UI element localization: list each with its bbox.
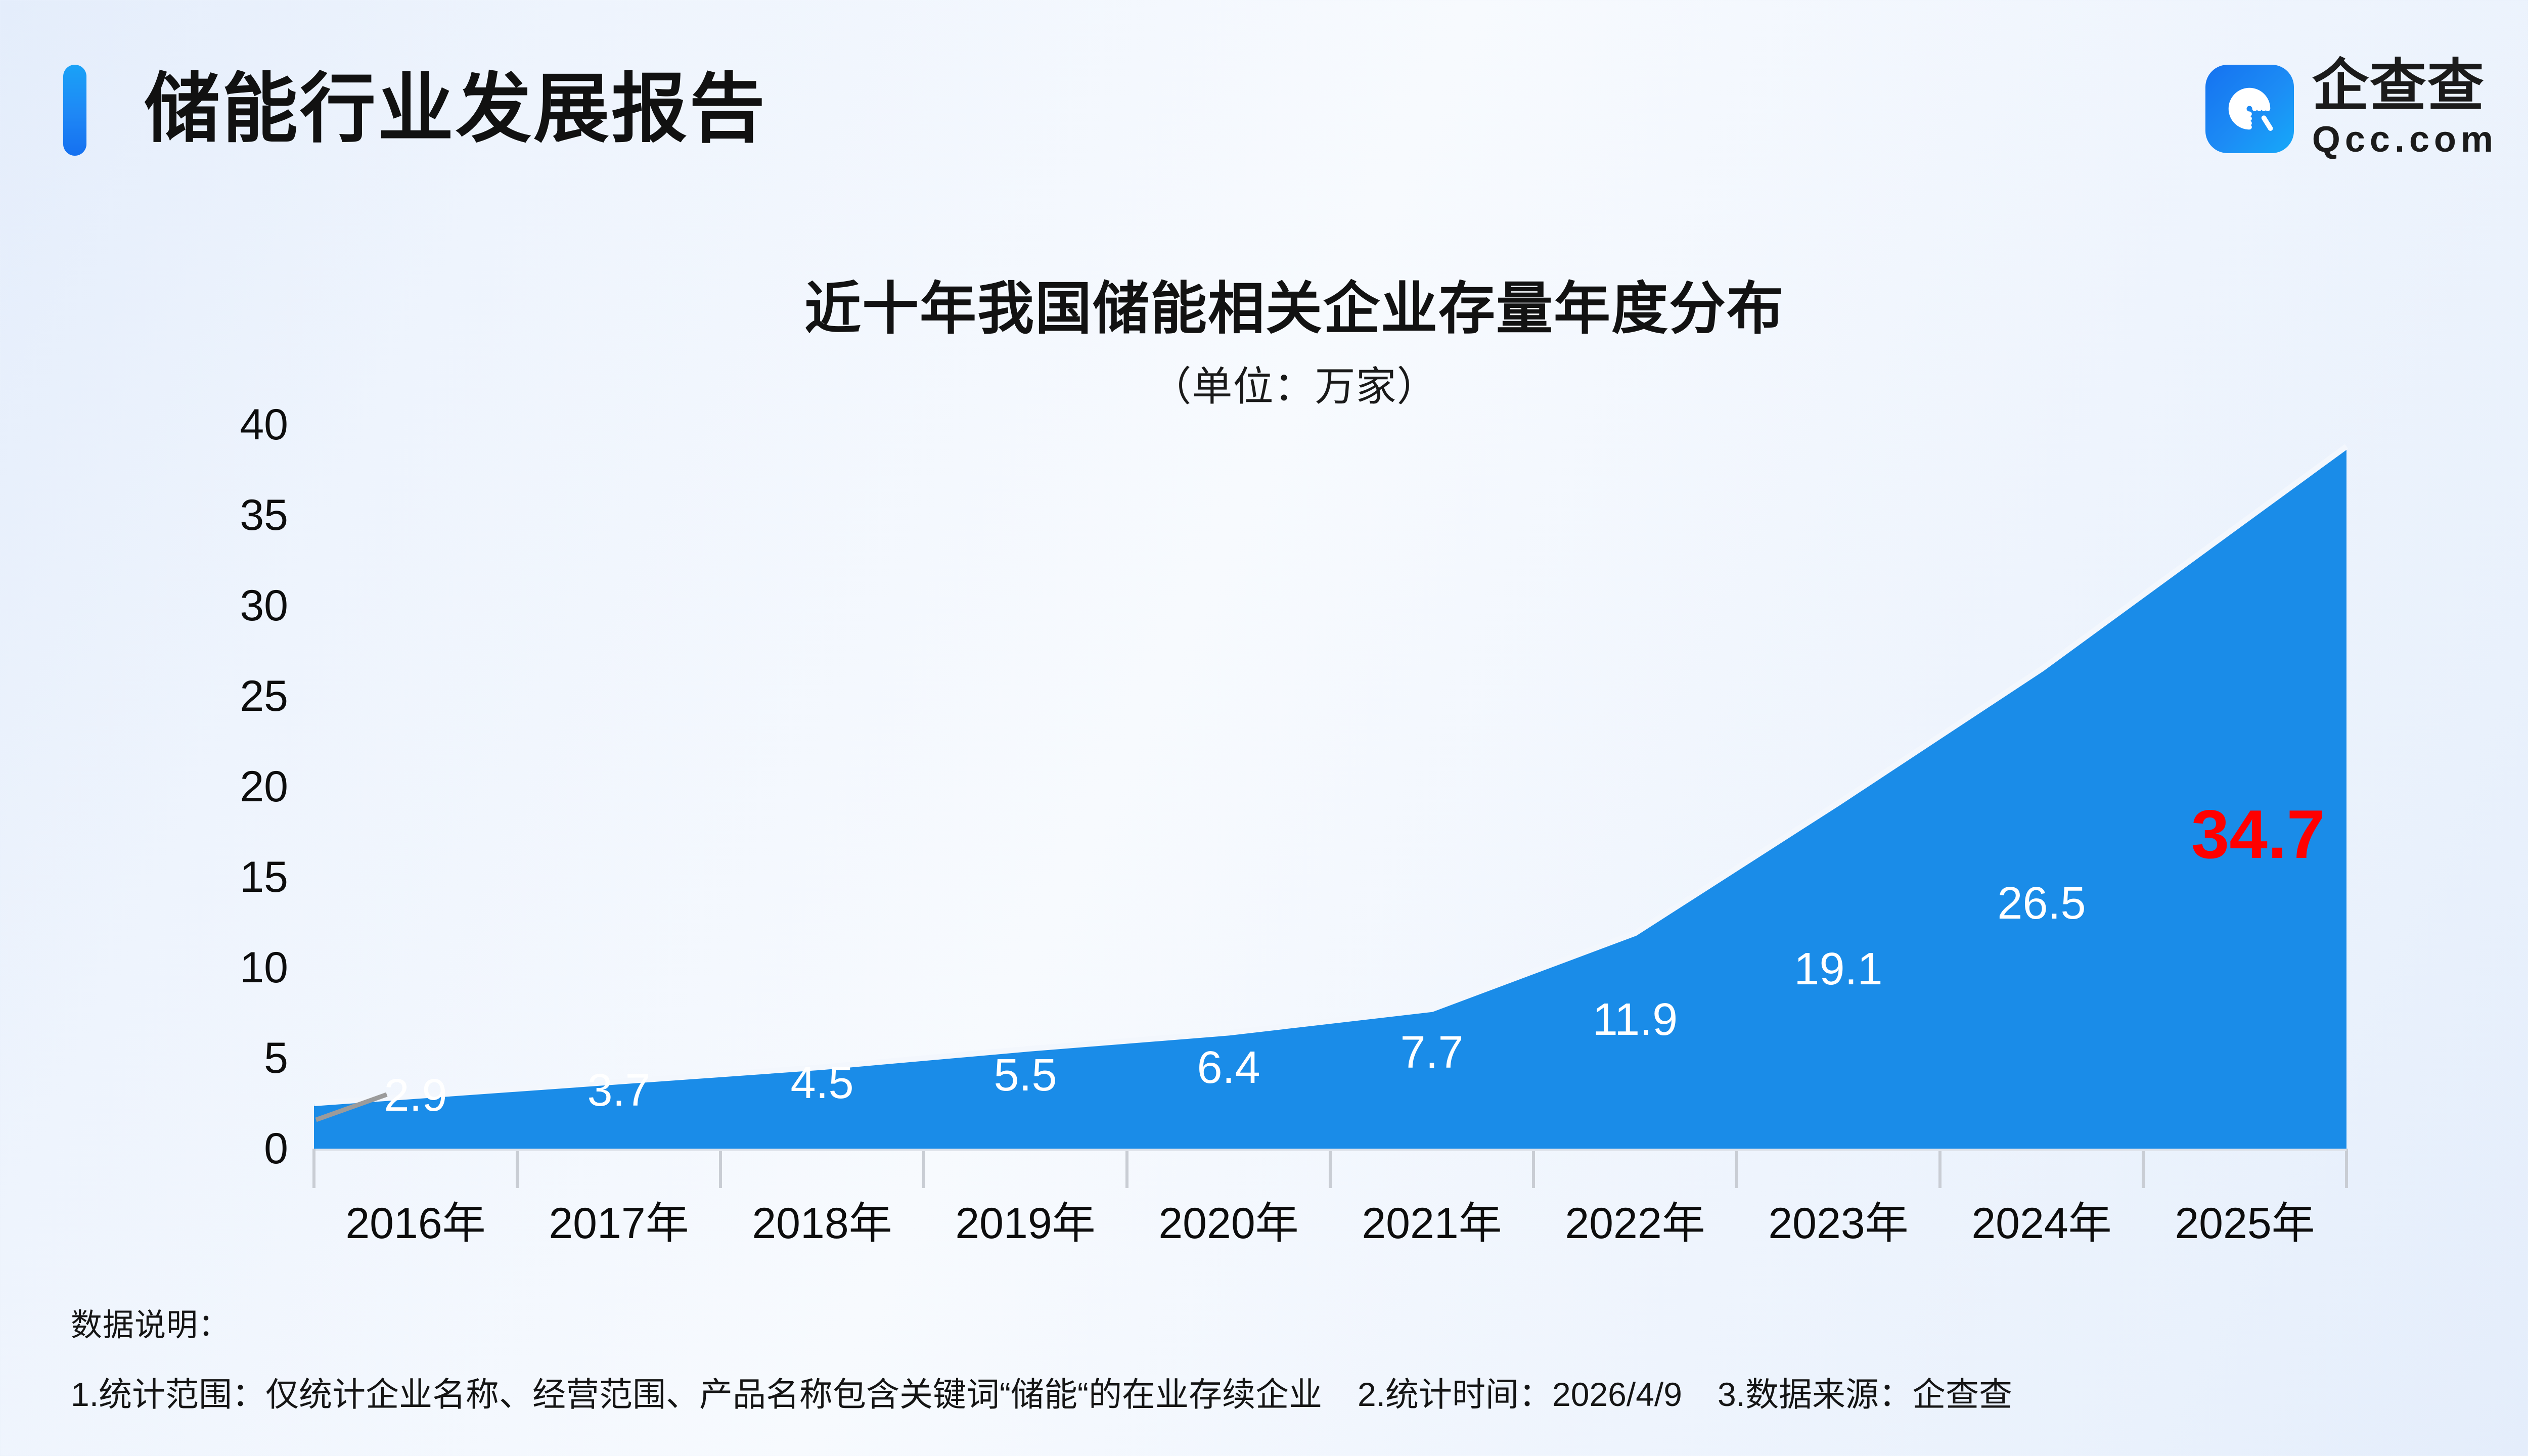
data-label: 19.1 [1732,946,1945,992]
footer-heading: 数据说明： [71,1299,230,1345]
data-label: 26.5 [1935,881,2148,926]
axis-tick-marks [314,1149,2346,1188]
y-axis-tick-label: 5 [177,1036,288,1080]
x-axis-tick-label: 2023年 [1727,1202,1950,1245]
x-axis-tick-label: 2016年 [304,1202,527,1245]
x-axis-tick-label: 2019年 [914,1202,1137,1245]
y-axis-tick-label: 40 [177,403,288,446]
data-label: 11.9 [1529,997,1741,1042]
footer-notes: 1.统计范围：仅统计企业名称、经营范围、产品名称包含关键词“储能“的在业存续企业… [71,1368,2012,1416]
y-axis-tick-label: 15 [177,855,288,899]
x-axis-tick-label: 2018年 [711,1202,933,1245]
data-label: 3.7 [513,1068,725,1113]
footer-note-3: 3.数据来源：企查查 [1718,1376,2012,1413]
footer-note-2: 2.统计时间：2026/4/9 [1358,1376,1682,1413]
x-axis-tick-label: 2024年 [1930,1202,2153,1245]
y-axis-tick-label: 30 [177,584,288,627]
x-axis-tick-label: 2020年 [1117,1202,1340,1245]
y-axis-tick-label: 35 [177,493,288,537]
data-label: 2.9 [309,1073,522,1118]
y-axis-tick-label: 0 [177,1127,288,1170]
x-axis-tick-label: 2022年 [1524,1202,1746,1245]
y-axis-tick-label: 25 [177,674,288,718]
x-axis-tick-label: 2017年 [508,1202,730,1245]
data-label-highlight: 34.7 [2116,800,2400,869]
x-axis-tick-label: 2021年 [1321,1202,1543,1245]
data-label: 5.5 [919,1053,1132,1098]
area-chart: 4035302520151050 2016年2017年2018年2019年202… [0,0,2528,1456]
x-axis-tick-label: 2025年 [2134,1202,2356,1245]
data-label: 4.5 [716,1060,928,1106]
data-label: 7.7 [1326,1030,1538,1075]
data-label: 6.4 [1122,1045,1335,1090]
footer-note-1: 1.统计范围：仅统计企业名称、经营范围、产品名称包含关键词“储能“的在业存续企业 [71,1376,1322,1413]
y-axis-tick-label: 20 [177,765,288,808]
y-axis-tick-label: 10 [177,946,288,989]
